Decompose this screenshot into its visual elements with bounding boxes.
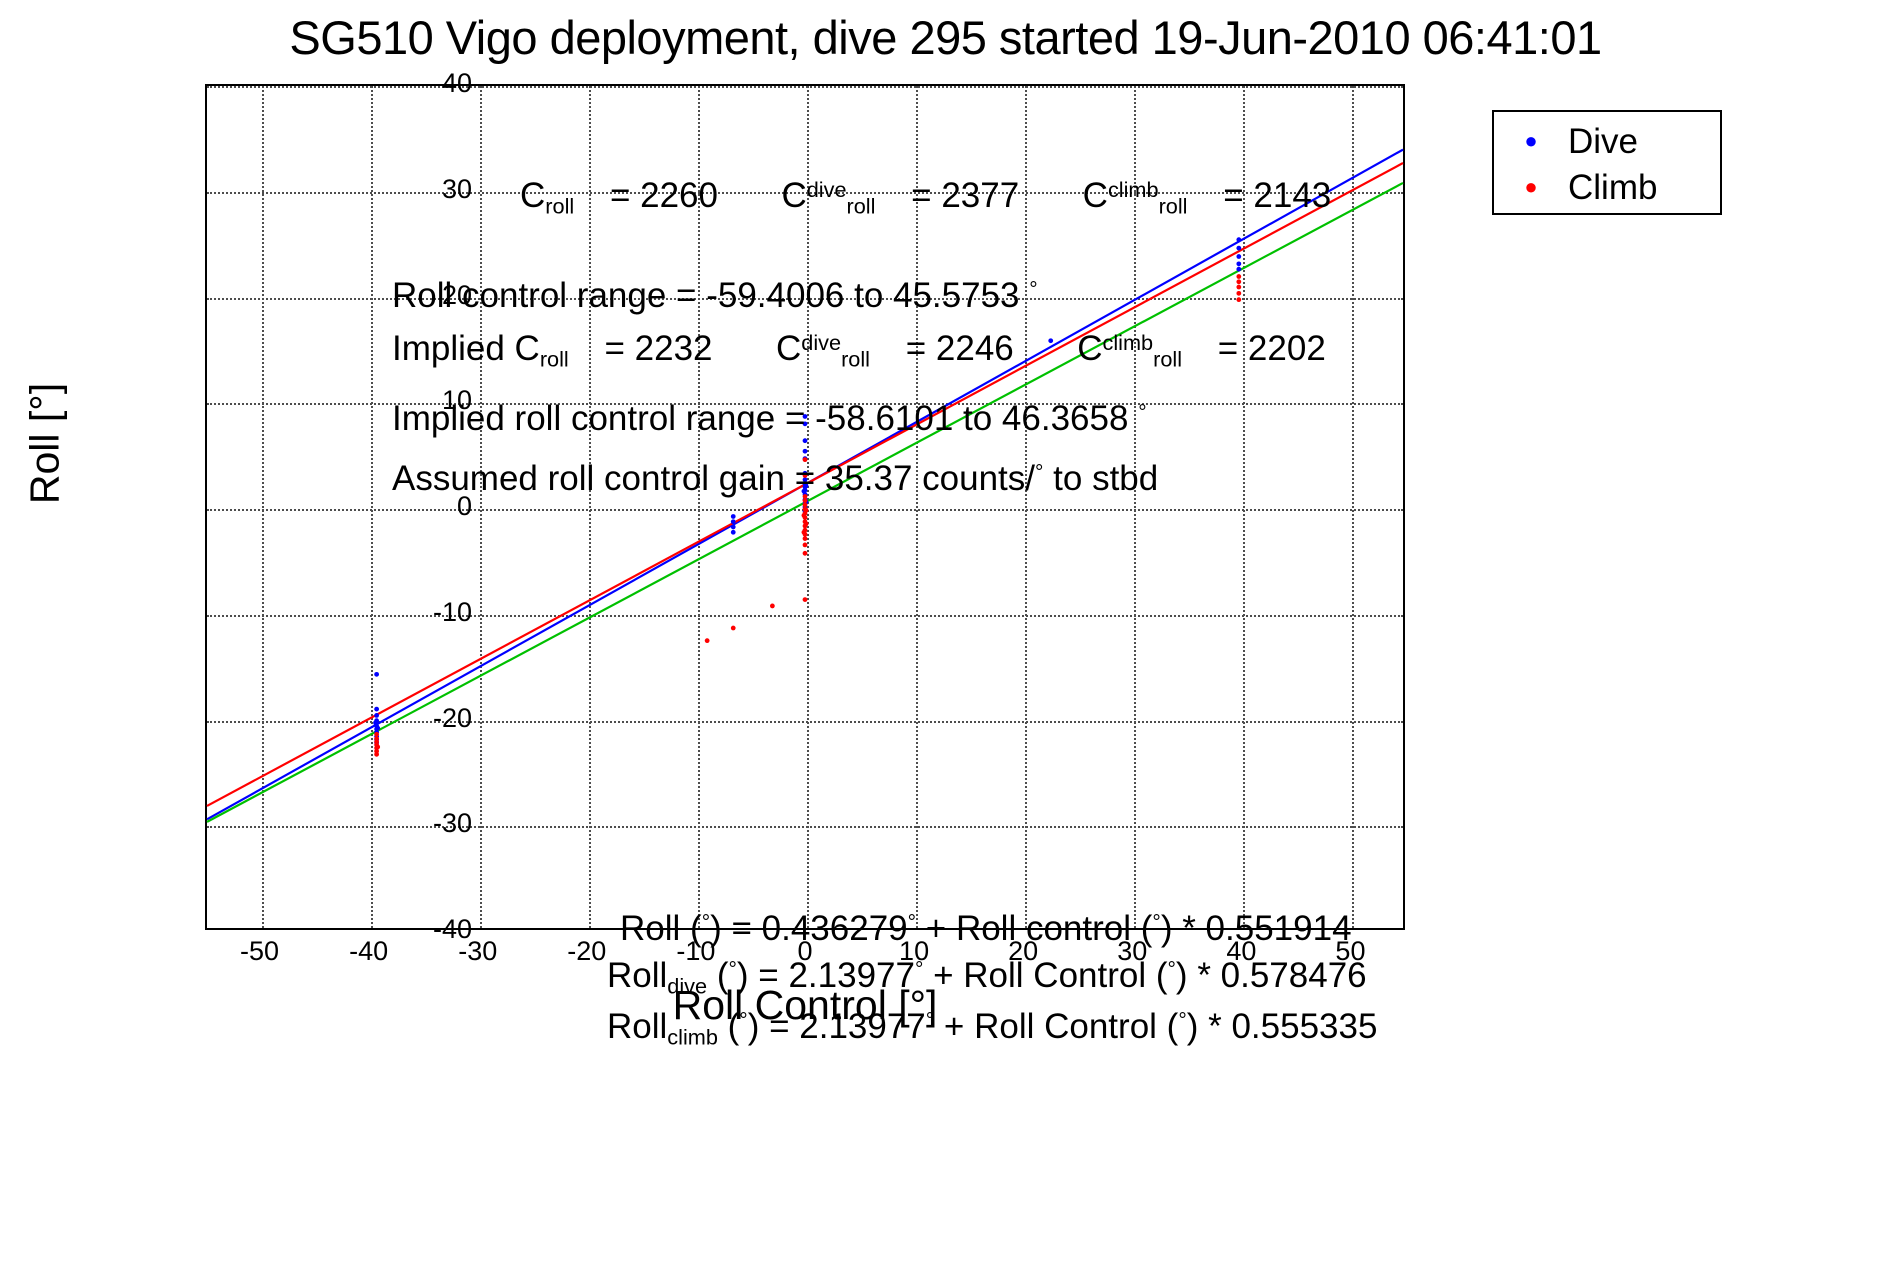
y-tick-label: -30	[352, 810, 472, 837]
legend-marker-dive: ●	[1494, 130, 1568, 152]
eq-all-prefix: Roll	[620, 909, 680, 948]
degree-icon: °	[908, 911, 916, 934]
eq-climb-unit2: (°)	[1167, 1007, 1199, 1046]
data-point	[1236, 254, 1241, 259]
implied-c-dive-symbol: Cdiveroll	[776, 329, 870, 368]
data-point	[374, 672, 379, 677]
annotation-c-roll-line: Croll = 2260 Cdiveroll = 2377 Cclimbroll…	[520, 172, 1331, 224]
implied-c-climb-symbol: Cclimbroll	[1077, 329, 1182, 368]
eq-dive-unit: (°)	[717, 956, 749, 995]
eq-all-unit: (°)	[690, 909, 722, 948]
data-point	[803, 536, 808, 541]
data-point	[731, 525, 736, 530]
c-roll-climb-symbol: Cclimbroll	[1083, 176, 1188, 215]
eq-all-body: = 0.436279	[731, 909, 907, 948]
data-point	[1236, 237, 1241, 242]
annotation-equation-climb: Rollclimb (°) = 2.13977° + Roll Control …	[607, 1003, 1377, 1055]
degree-icon: °	[915, 958, 923, 981]
eq-climb-unit: (°)	[728, 1007, 760, 1046]
implied-c-roll-value: = 2232	[604, 329, 712, 368]
data-point	[803, 597, 808, 602]
data-point	[731, 530, 736, 535]
degree-icon: °	[926, 1009, 934, 1032]
data-point	[375, 745, 380, 750]
annotation-equation-dive: Rolldive (°) = 2.13977° + Roll Control (…	[607, 952, 1367, 1004]
eq-all-tail: + Roll control	[926, 909, 1131, 948]
data-point	[731, 514, 736, 519]
y-tick-label: -10	[352, 599, 472, 626]
legend-marker-climb: ●	[1494, 176, 1568, 198]
c-roll-climb-value: = 2143	[1223, 176, 1331, 215]
data-point	[1236, 274, 1241, 279]
implied-prefix: Implied Croll	[392, 329, 569, 368]
data-point	[1236, 279, 1241, 284]
data-point	[731, 519, 736, 524]
legend-label-climb: Climb	[1568, 170, 1657, 205]
legend-item-climb[interactable]: ● Climb	[1494, 164, 1720, 210]
degree-icon: °	[1029, 278, 1037, 301]
annotation-assumed-gain: Assumed roll control gain = 35.37 counts…	[392, 455, 1158, 497]
data-point	[803, 449, 808, 454]
implied-c-climb-value: = 2202	[1218, 329, 1326, 368]
data-point	[803, 438, 808, 443]
assumed-gain-text: Assumed roll control gain = 35.37 counts…	[392, 459, 1035, 498]
eq-climb-tail: + Roll Control	[944, 1007, 1157, 1046]
data-point	[1236, 285, 1241, 290]
y-axis-label: Roll [°]	[22, 144, 69, 744]
data-point	[705, 638, 710, 643]
eq-climb-slope: * 0.555335	[1208, 1007, 1377, 1046]
assumed-gain-tail: to stbd	[1053, 459, 1158, 498]
data-point	[803, 498, 808, 503]
x-tick-label: -50	[200, 938, 320, 965]
eq-all-unit2: (°)	[1141, 909, 1173, 948]
implied-range-text: Implied roll control range = -58.6101 to…	[392, 399, 1128, 438]
x-tick-label: -40	[309, 938, 429, 965]
eq-dive-unit2: (°)	[1156, 956, 1188, 995]
annotation-equation-all: Roll (°) = 0.436279° + Roll control (°) …	[620, 905, 1352, 947]
data-point	[1236, 261, 1241, 266]
c-roll-dive-value: = 2377	[911, 176, 1019, 215]
c-roll-value: = 2260	[610, 176, 718, 215]
eq-dive-prefix: Rolldive	[607, 956, 707, 995]
data-point	[731, 626, 736, 631]
data-point	[803, 551, 808, 556]
data-point	[1236, 291, 1241, 296]
y-tick-label: -20	[352, 705, 472, 732]
page-title: SG510 Vigo deployment, dive 295 started …	[0, 8, 1891, 68]
data-point	[374, 752, 379, 757]
data-point	[804, 521, 809, 526]
eq-dive-tail: + Roll Control	[933, 956, 1146, 995]
annotation-implied-roll-control-range: Implied roll control range = -58.6101 to…	[392, 395, 1147, 437]
legend[interactable]: ● Dive ● Climb	[1492, 110, 1722, 215]
c-roll-dive-symbol: Cdiveroll	[781, 176, 875, 215]
data-point	[374, 732, 379, 737]
eq-dive-slope: * 0.578476	[1197, 956, 1366, 995]
degree-icon: °	[1035, 461, 1043, 484]
annotation-roll-control-range: Roll control range = -59.4006 to 45.5753…	[392, 272, 1038, 314]
legend-item-dive[interactable]: ● Dive	[1494, 118, 1720, 164]
y-tick-label: 40	[352, 70, 472, 97]
roll-control-range-text: Roll control range = -59.4006 to 45.5753	[392, 276, 1020, 315]
c-roll-symbol: Croll	[520, 176, 574, 215]
data-point	[803, 503, 808, 508]
data-point	[802, 530, 807, 535]
data-point	[770, 604, 775, 609]
annotation-implied-c-line: Implied Croll = 2232 Cdiveroll = 2246 Cc…	[392, 325, 1326, 377]
legend-label-dive: Dive	[1568, 124, 1638, 159]
eq-climb-prefix: Rollclimb	[607, 1007, 718, 1046]
eq-dive-body: = 2.13977	[758, 956, 915, 995]
x-tick-label: -30	[418, 938, 538, 965]
eq-all-slope: * 0.551914	[1182, 909, 1351, 948]
data-point	[1236, 246, 1241, 251]
degree-icon: °	[1138, 401, 1146, 424]
data-point	[804, 508, 809, 513]
data-point	[802, 513, 807, 518]
y-tick-label: 30	[352, 176, 472, 203]
implied-c-dive-value: = 2246	[906, 329, 1014, 368]
data-point	[803, 543, 808, 548]
data-point	[1236, 297, 1241, 302]
eq-climb-body: = 2.13977	[769, 1007, 926, 1046]
data-point	[1236, 267, 1241, 272]
